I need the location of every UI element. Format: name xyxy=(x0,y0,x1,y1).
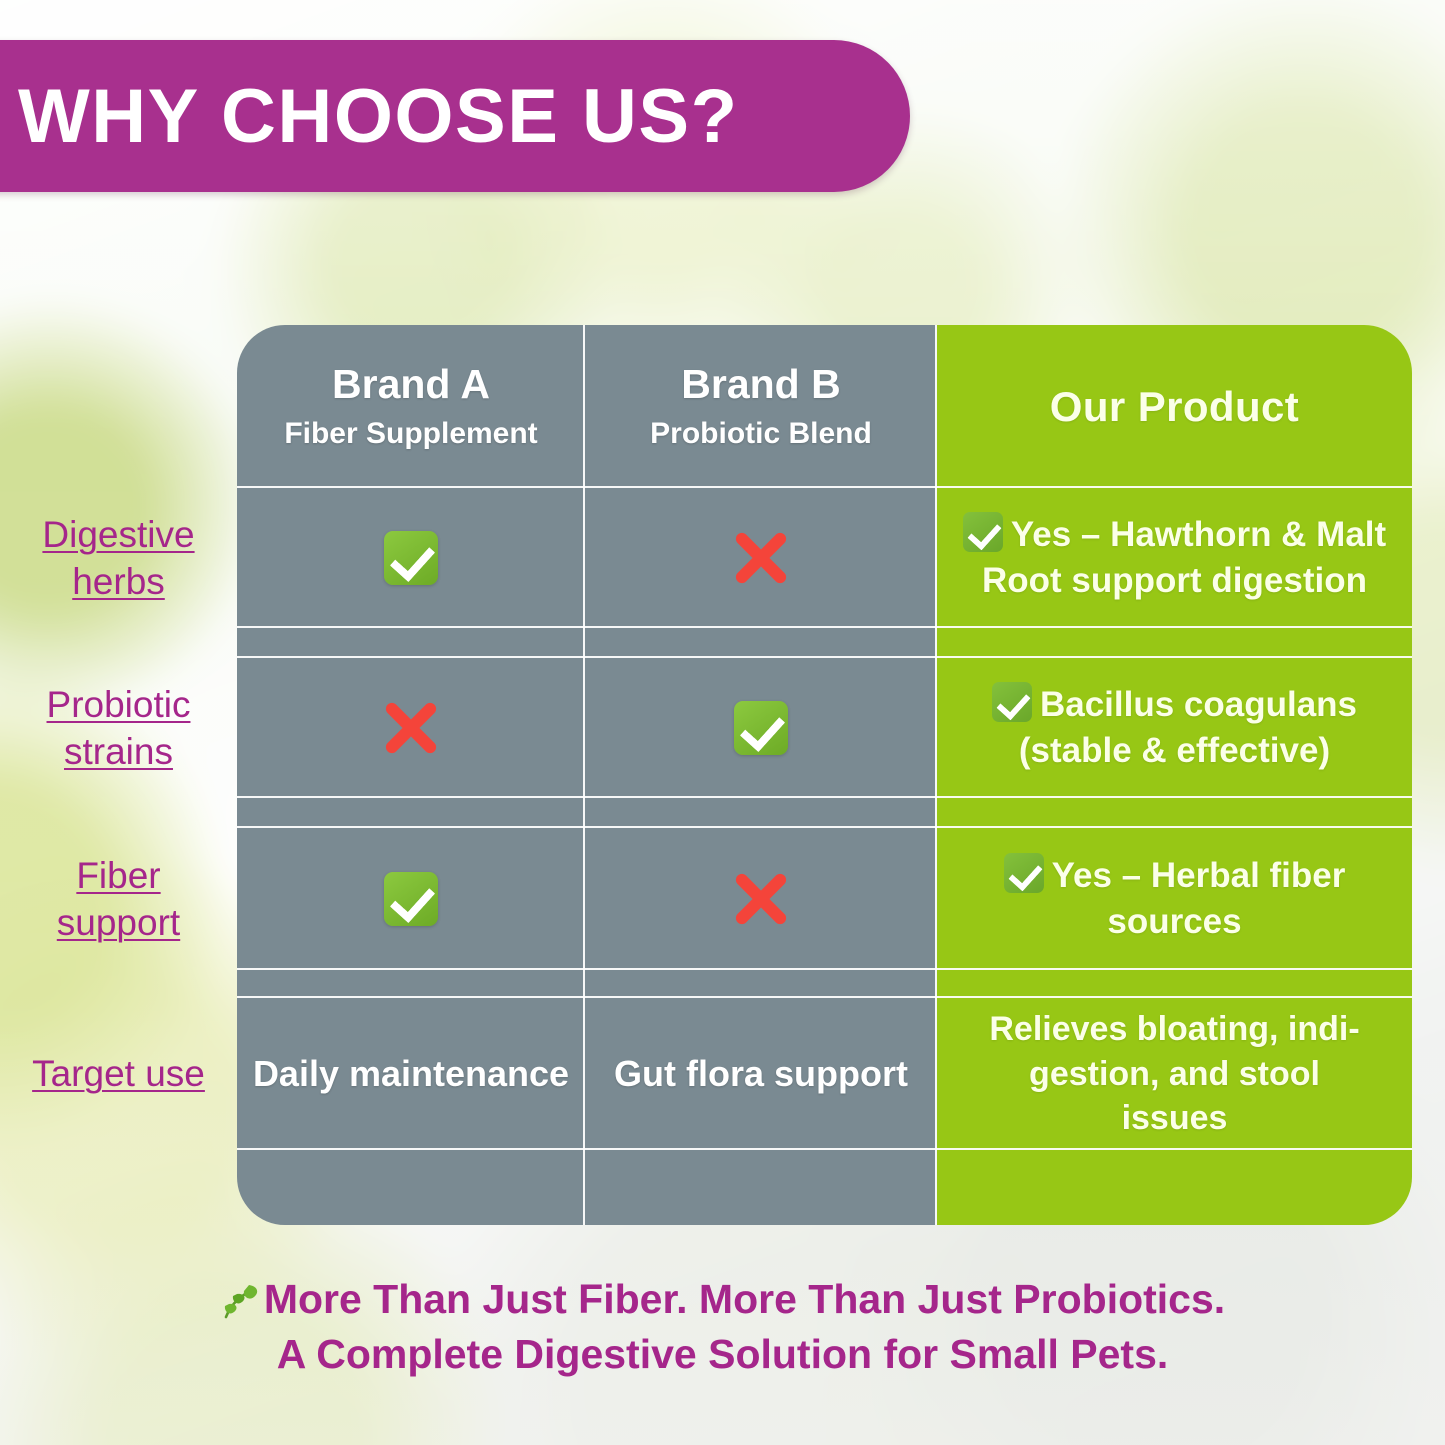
row-label-line2: strains xyxy=(64,731,173,772)
cell-our-product-digestive-herbs: Yes – Hawthorn & Malt Root support diges… xyxy=(937,488,1412,628)
check-icon xyxy=(734,701,788,755)
spacer-our-product-1 xyxy=(937,628,1412,658)
spacer-our-product-3 xyxy=(937,970,1412,998)
spacer-brand-b-2 xyxy=(585,798,937,828)
cross-icon xyxy=(732,529,790,587)
column-header-brand-a-title: Brand A xyxy=(332,363,490,406)
cell-text-line2: (stable & effective) xyxy=(1019,731,1330,770)
herb-leaf-icon xyxy=(220,1280,262,1320)
table-footer-brand-a xyxy=(237,1150,585,1225)
cell-brand-a-probiotic-strains xyxy=(237,658,585,798)
column-header-brand-b-title: Brand B xyxy=(681,363,840,406)
cell-brand-a-fiber-support xyxy=(237,828,585,970)
cell-text: Gut flora support xyxy=(606,1053,916,1094)
column-header-brand-a: Brand A Fiber Supplement xyxy=(237,325,585,488)
row-label-line1: Digestive xyxy=(42,514,194,555)
check-icon xyxy=(992,682,1032,722)
row-label-digestive-herbs: Digestive herbs xyxy=(0,488,237,628)
row-label-line1: Target use xyxy=(32,1053,205,1094)
cross-icon xyxy=(382,699,440,757)
row-label-probiotic-strains: Probiotic strains xyxy=(0,658,237,798)
table-footer-our-product xyxy=(937,1150,1412,1225)
table-footer-brand-b xyxy=(585,1150,937,1225)
check-icon xyxy=(963,512,1003,552)
check-icon xyxy=(384,531,438,585)
cell-brand-b-digestive-herbs xyxy=(585,488,937,628)
check-icon xyxy=(384,872,438,926)
cross-icon xyxy=(732,870,790,928)
column-header-our-product-title: Our Product xyxy=(1050,383,1299,431)
cell-our-product-fiber-support: Yes – Herbal fiber sources xyxy=(937,828,1412,970)
spacer-label-2 xyxy=(0,798,237,828)
cell-brand-a-target-use: Daily maintenance xyxy=(237,998,585,1150)
cell-text-line2: Root support digestion xyxy=(982,561,1367,600)
cell-brand-b-probiotic-strains xyxy=(585,658,937,798)
spacer-label-1 xyxy=(0,628,237,658)
spacer-brand-a-3 xyxy=(237,970,585,998)
cell-our-product-probiotic-strains: Bacillus coagulans (stable & effective) xyxy=(937,658,1412,798)
cell-text: Daily maintenance xyxy=(245,1053,577,1094)
spacer-brand-b-3 xyxy=(585,970,937,998)
cell-text-line2: sources xyxy=(1107,902,1241,941)
row-label-line2: support xyxy=(57,902,180,943)
cell-text-line3: issues xyxy=(1122,1099,1228,1137)
cell-text-line1: Yes – Herbal fiber xyxy=(1052,856,1346,895)
cell-text-line1: Bacillus coagulans xyxy=(1040,685,1357,724)
spacer-our-product-2 xyxy=(937,798,1412,828)
row-label-line1: Fiber xyxy=(76,855,160,896)
comparison-table: Brand A Fiber Supplement Brand B Probiot… xyxy=(0,325,1412,1225)
cell-brand-b-target-use: Gut flora support xyxy=(585,998,937,1150)
spacer-label-3 xyxy=(0,970,237,998)
row-label-line2: herbs xyxy=(72,561,165,602)
column-header-our-product: Our Product xyxy=(937,325,1412,488)
check-icon xyxy=(1004,853,1044,893)
cell-brand-a-digestive-herbs xyxy=(237,488,585,628)
tagline-line1: More Than Just Fiber. More Than Just Pro… xyxy=(264,1276,1225,1322)
table-footer-blank xyxy=(0,1150,237,1225)
row-label-line1: Probiotic xyxy=(47,684,191,725)
tagline: More Than Just Fiber. More Than Just Pro… xyxy=(0,1272,1445,1383)
cell-text-line2: gestion, and stool xyxy=(1029,1055,1320,1093)
page-title: WHY CHOOSE US? xyxy=(0,73,739,160)
table-corner-blank xyxy=(0,325,237,488)
cell-brand-b-fiber-support xyxy=(585,828,937,970)
tagline-line2: A Complete Digestive Solution for Small … xyxy=(0,1327,1445,1382)
row-label-fiber-support: Fiber support xyxy=(0,828,237,970)
column-header-brand-b: Brand B Probiotic Blend xyxy=(585,325,937,488)
header-banner: WHY CHOOSE US? xyxy=(0,40,910,192)
spacer-brand-a-1 xyxy=(237,628,585,658)
row-label-target-use: Target use xyxy=(0,998,237,1150)
spacer-brand-b-1 xyxy=(585,628,937,658)
column-header-brand-b-subtitle: Probiotic Blend xyxy=(650,418,872,450)
spacer-brand-a-2 xyxy=(237,798,585,828)
cell-text-line1: Yes – Hawthorn & Malt xyxy=(1011,515,1386,554)
cell-our-product-target-use: Relieves bloating, indi- gestion, and st… xyxy=(937,998,1412,1150)
cell-text-line1: Relieves bloating, indi- xyxy=(989,1010,1359,1048)
column-header-brand-a-subtitle: Fiber Supplement xyxy=(284,418,537,450)
